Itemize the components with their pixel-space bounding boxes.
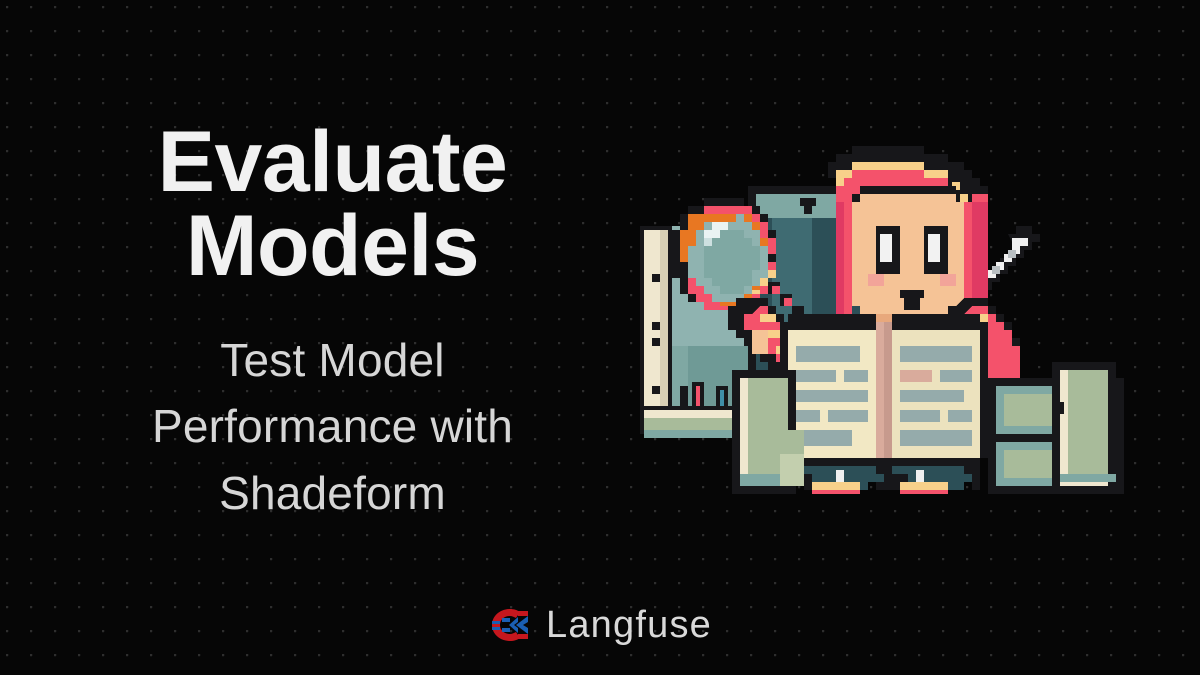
hero-text-column: Evaluate Models Test Model Performance w… (40, 120, 625, 527)
character-legs (796, 458, 980, 494)
page-subtitle: Test Model Performance with Shadeform (40, 327, 625, 527)
brand-footer: Langfuse (0, 605, 1200, 645)
right-shelf (988, 362, 1124, 494)
hero-illustration (636, 138, 1128, 494)
pixel-art-svg (636, 138, 1128, 494)
page-title: Evaluate Models (40, 120, 625, 289)
hero-banner: Evaluate Models Test Model Performance w… (0, 0, 1200, 675)
brand-name-label: Langfuse (546, 606, 712, 644)
open-book (780, 314, 988, 466)
left-seat (732, 370, 804, 494)
langfuse-logo-icon (488, 605, 532, 645)
